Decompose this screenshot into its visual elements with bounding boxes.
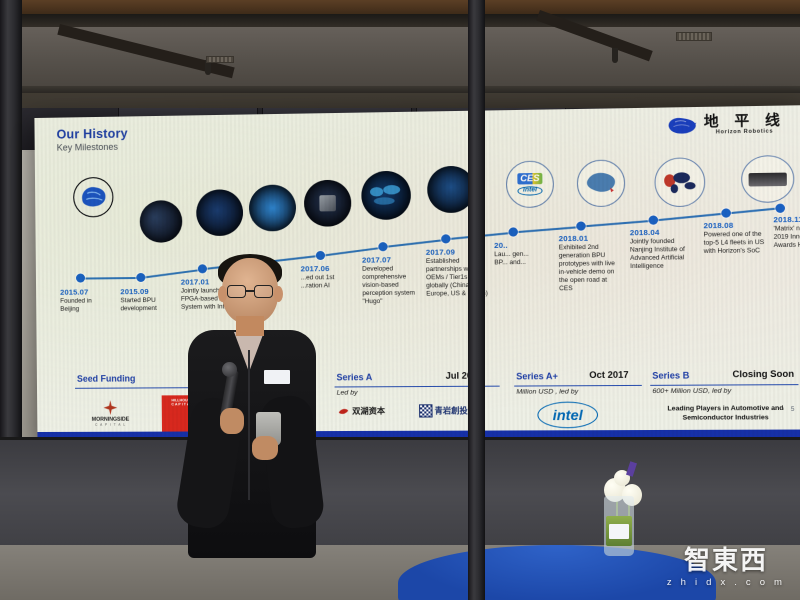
milestone-text: Developed comprehensive vision-based per… <box>362 265 422 306</box>
ceiling-downlight-icon <box>612 48 618 63</box>
watermark-en: z h i d x . c o m <box>662 577 790 588</box>
ceiling-vent <box>676 32 712 41</box>
slide-subtitle: Key Milestones <box>57 142 118 153</box>
milestone-date: 2015.09 <box>120 287 177 297</box>
presenter <box>178 258 326 558</box>
milestone-date: 2018.01 <box>559 233 618 243</box>
timeline-dot <box>508 227 517 236</box>
timeline-dot <box>721 208 731 217</box>
soffit-edge <box>0 86 800 93</box>
milestone-text: 'Matrix' named CES 2019 Innovation Award… <box>773 225 800 251</box>
eyeglasses-icon <box>227 285 246 298</box>
presenter-neck <box>236 316 264 336</box>
world-map-icon <box>654 157 705 207</box>
funding-investor-note: Leading Players in Automotive and Semico… <box>650 405 800 423</box>
slide-page-number: 5 <box>791 407 795 413</box>
brain-logo-icon <box>666 115 698 136</box>
timeline-segment <box>580 220 653 228</box>
brand-text: 地 平 线 Horizon Robotics <box>704 114 786 136</box>
presentation-slide: Our History Key Milestones 地 平 线 Horizon… <box>34 105 800 448</box>
brand-en-name: Horizon Robotics <box>704 128 785 135</box>
watermark-cn: 智東西 <box>662 548 790 574</box>
milestone-text: Founded in Beijing <box>60 297 112 314</box>
milestone-date: 2015.07 <box>60 287 112 296</box>
slide-title: Our History <box>57 127 128 142</box>
timeline-dot <box>576 221 586 230</box>
stage-platform <box>0 440 800 560</box>
milestone-date: 2018.08 <box>703 220 769 230</box>
milestone-date: 2018.11 <box>773 214 800 224</box>
jacket-zipper <box>248 350 250 500</box>
funding-round-date: Closing Soon <box>732 369 794 380</box>
funding-round-note: 600+ Million USD, led by <box>652 388 731 396</box>
milestone: 2018.08 Powered one of the top-5 L4 flee… <box>703 220 769 256</box>
milestone: 2018.04 Jointly founded Nanjing Institut… <box>630 227 694 271</box>
blue-sphere-icon <box>249 184 296 231</box>
milestone: 2015.09 Started BPU development <box>120 287 177 314</box>
timeline-dot <box>136 273 145 282</box>
funding-round-name: Seed Funding <box>77 373 136 383</box>
funding-rule <box>514 385 642 387</box>
tsing-capital-logo: 青岩創投 <box>419 404 468 417</box>
photo-circle-icon <box>196 189 243 236</box>
ceiling <box>0 0 800 108</box>
funding-section: Seed Funding MORNINGSIDE C A P I T A L H… <box>37 361 800 436</box>
zhidx-watermark: 智東西 z h i d x . c o m <box>662 548 790 588</box>
qr-square-icon <box>419 404 433 417</box>
wu-capital-logo: 双湖资本 <box>337 404 385 417</box>
chip-circle-icon <box>304 180 352 227</box>
milestone: 2018.11 'Matrix' named CES 2019 Innovati… <box>773 214 800 250</box>
timeline-dot <box>76 274 85 283</box>
funding-round-note: Million USD , led by <box>516 388 578 395</box>
ces-intel-icon: CES intel <box>506 160 554 208</box>
eyeglasses-bridge <box>246 290 254 292</box>
funding-round-name: Series A+ <box>516 371 558 381</box>
funding-round-date: Oct 2017 <box>589 370 628 380</box>
horizon-robotics-logo: 地 平 线 Horizon Robotics <box>666 114 786 136</box>
matrix-device-icon <box>741 155 795 203</box>
presenter-badge <box>264 370 290 384</box>
milestone: 2017.07 Developed comprehensive vision-b… <box>362 255 422 307</box>
ceiling-beam <box>0 14 800 27</box>
milestone-text: Jointly founded Nanjing Institute of Adv… <box>630 238 694 272</box>
milestone: 2015.07 Founded in Beijing <box>60 287 112 314</box>
milestone-text: Powered one of the top-5 L4 fleets in US… <box>704 231 770 257</box>
structural-column <box>468 0 485 600</box>
vase-label <box>609 524 629 539</box>
timeline-segment <box>726 207 779 214</box>
milestone-text: Started BPU development <box>120 297 177 314</box>
milestone: 2018.01 Exhibited 2nd generation BPU pro… <box>559 233 618 293</box>
funding-rule <box>650 384 798 386</box>
brand-cn-name: 地 平 线 <box>704 114 786 130</box>
milestone-date: 2017.07 <box>362 255 422 265</box>
conference-room-scene: Our History Key Milestones 地 平 线 Horizon… <box>0 0 800 600</box>
milestone-text: Exhibited 2nd generation BPU prototypes … <box>559 244 618 294</box>
morningside-capital-logo: MORNINGSIDE C A P I T A L <box>77 400 144 427</box>
presenter-hand <box>220 408 244 434</box>
brain-chip-icon <box>73 177 114 218</box>
timeline-segment <box>513 226 582 234</box>
timeline-dot <box>441 234 450 243</box>
world-map-icon <box>361 171 411 220</box>
milestone-date: 2018.04 <box>630 227 693 237</box>
timeline-dot <box>378 242 387 251</box>
presenter-ear <box>274 286 283 302</box>
milestone-date: 20.. <box>494 240 536 250</box>
timeline-dot <box>775 204 785 213</box>
ceiling-vent <box>206 56 234 63</box>
photo-circle-icon <box>140 200 183 243</box>
presenter-ear <box>218 286 227 302</box>
intel-logo: intel <box>537 402 598 429</box>
funding-round-name: Series B <box>652 370 689 380</box>
milestone-text: Lau... gen... BP... and... <box>494 251 536 268</box>
funding-round-name: Series A <box>336 372 372 382</box>
presenter-hand <box>252 436 278 460</box>
timeline-segment <box>80 277 140 280</box>
timeline-dot <box>649 215 659 224</box>
microphone-icon <box>222 362 237 377</box>
china-map-icon <box>577 159 626 207</box>
milestone: 20.. Lau... gen... BP... and... <box>494 240 536 267</box>
funding-round-note: Led by <box>337 389 358 396</box>
eyeglasses-icon <box>254 285 273 298</box>
